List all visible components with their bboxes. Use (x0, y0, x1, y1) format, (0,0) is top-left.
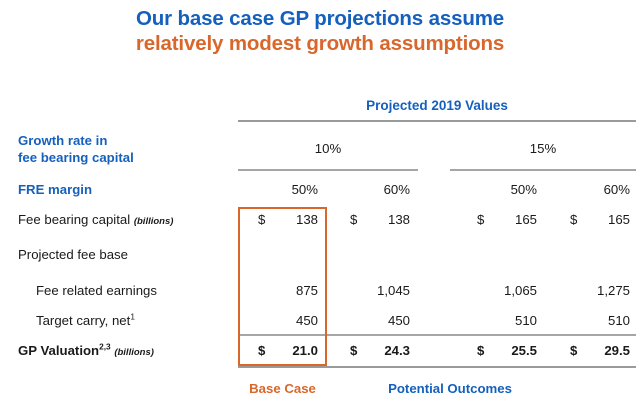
caption-base-case: Base Case (238, 381, 327, 396)
fre-margin-col-1: 50% (258, 182, 318, 197)
value-r5c1: 21.0 (258, 343, 318, 358)
value-r4c1: 450 (258, 313, 318, 328)
caption-potential-outcomes: Potential Outcomes (330, 381, 570, 396)
rule-above-total-row (238, 334, 636, 336)
row-label-fee-related-earnings: Fee related earnings (36, 283, 157, 298)
rule-below-total-row (238, 366, 636, 368)
rule-under-growth-group-2 (450, 169, 636, 171)
row-label-target-carry-net: Target carry, net1 (36, 313, 135, 328)
footnote-marker-1: 1 (130, 312, 135, 322)
row-label-fre-margin: FRE margin (18, 182, 92, 197)
footnote-marker-2-3: 2,3 (99, 342, 111, 352)
row-label-projected-fee-base: Projected fee base (18, 247, 128, 262)
row-label-growth-rate-line2: fee bearing capital (18, 150, 134, 165)
title-line-1: Our base case GP projections assume (0, 6, 640, 31)
value-r5c2: 24.3 (350, 343, 410, 358)
growth-rate-group-2: 15% (450, 141, 636, 156)
value-r5c3: 25.5 (477, 343, 537, 358)
value-r5c4: 29.5 (570, 343, 630, 358)
value-r3c2: 1,045 (350, 283, 410, 298)
value-r4c3: 510 (477, 313, 537, 328)
rule-under-growth-group-1 (238, 169, 418, 171)
rule-under-group-header (238, 120, 636, 122)
row-label-gp-valuation: GP Valuation2,3 (billions) (18, 343, 154, 358)
value-r3c1: 875 (258, 283, 318, 298)
row-label-text: GP Valuation (18, 343, 99, 358)
row-label-text: Target carry, net (36, 313, 130, 328)
fre-margin-col-3: 50% (477, 182, 537, 197)
row-label-text: Fee bearing capital (18, 212, 130, 227)
title-line-2: relatively modest growth assumptions (0, 31, 640, 56)
row-units: (billions) (134, 216, 174, 227)
value-r1c2: 138 (350, 212, 410, 227)
value-r1c3: 165 (477, 212, 537, 227)
row-label-text: Fee related earnings (36, 283, 157, 298)
row-label-fee-bearing-capital: Fee bearing capital (billions) (18, 212, 173, 227)
row-label-text: Projected fee base (18, 247, 128, 262)
fre-margin-col-2: 60% (350, 182, 410, 197)
value-r3c3: 1,065 (477, 283, 537, 298)
slide-title: Our base case GP projections assume rela… (0, 6, 640, 56)
table-group-header: Projected 2019 Values (238, 98, 636, 113)
value-r4c2: 450 (350, 313, 410, 328)
growth-rate-group-1: 10% (238, 141, 418, 156)
row-units: (billions) (114, 347, 154, 358)
value-r3c4: 1,275 (570, 283, 630, 298)
value-r4c4: 510 (570, 313, 630, 328)
fre-margin-col-4: 60% (570, 182, 630, 197)
row-label-growth-rate-line1: Growth rate in (18, 133, 107, 148)
projections-table: Projected 2019 Values Growth rate in fee… (0, 95, 640, 385)
value-r1c4: 165 (570, 212, 630, 227)
value-r1c1: 138 (258, 212, 318, 227)
